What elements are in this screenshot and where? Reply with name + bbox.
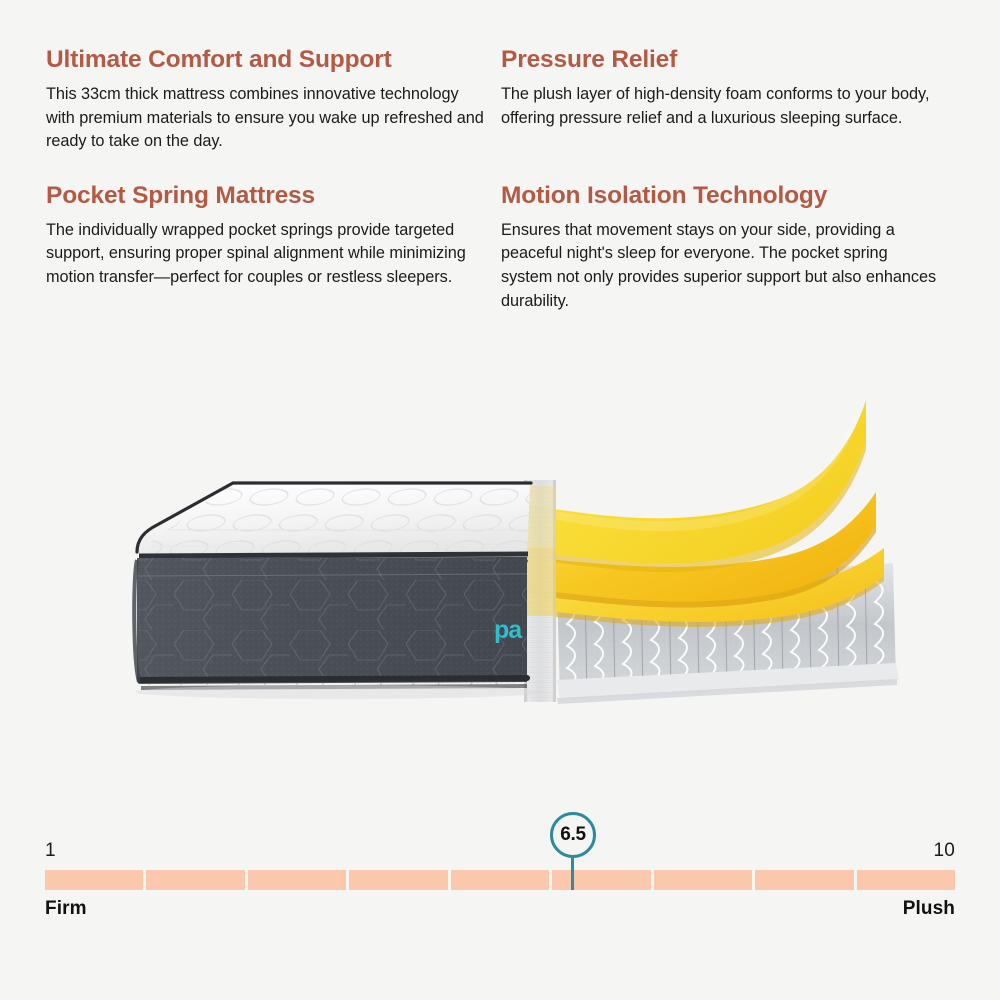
firmness-marker-stem bbox=[571, 857, 574, 890]
scale-foot-labels: Firm Plush bbox=[45, 898, 955, 920]
scale-segment[interactable] bbox=[349, 870, 447, 890]
feature-body: The plush layer of high-density foam con… bbox=[501, 83, 942, 130]
scale-segment[interactable] bbox=[857, 870, 955, 890]
scale-plush-label: Plush bbox=[903, 898, 955, 920]
scale-segment[interactable] bbox=[755, 870, 853, 890]
feature-grid: Ultimate Comfort and Support This 33cm t… bbox=[46, 46, 956, 313]
scale-segment[interactable] bbox=[146, 870, 244, 890]
scale-segment[interactable] bbox=[654, 870, 752, 890]
mattress-cutaway-illustration: pa bbox=[0, 380, 1000, 750]
firmness-marker[interactable]: 6.5 bbox=[550, 812, 596, 890]
mattress-body: pa bbox=[120, 476, 540, 688]
feature-body: The individually wrapped pocket springs … bbox=[46, 219, 487, 290]
feature-card-ultimate-comfort: Ultimate Comfort and Support This 33cm t… bbox=[46, 46, 501, 154]
scale-min-label: 1 bbox=[45, 840, 56, 862]
feature-title: Pocket Spring Mattress bbox=[46, 182, 487, 210]
scale-segment[interactable] bbox=[45, 870, 143, 890]
scale-max-label: 10 bbox=[933, 840, 955, 862]
firmness-scale: 1 10 6.5 Firm Plush bbox=[45, 812, 955, 924]
scale-firm-label: Firm bbox=[45, 898, 87, 920]
feature-card-pressure-relief: Pressure Relief The plush layer of high-… bbox=[501, 46, 956, 154]
feature-title: Pressure Relief bbox=[501, 46, 942, 74]
feature-title: Ultimate Comfort and Support bbox=[46, 46, 487, 74]
scale-end-labels: 1 10 bbox=[45, 840, 955, 862]
brand-logo-text: pa bbox=[494, 616, 523, 644]
feature-body: This 33cm thick mattress combines innova… bbox=[46, 83, 487, 154]
feature-title: Motion Isolation Technology bbox=[501, 182, 942, 210]
feature-card-motion-isolation: Motion Isolation Technology Ensures that… bbox=[501, 182, 956, 313]
firmness-marker-value[interactable]: 6.5 bbox=[550, 812, 596, 858]
feature-card-pocket-spring: Pocket Spring Mattress The individually … bbox=[46, 182, 501, 313]
scale-track[interactable] bbox=[45, 870, 955, 890]
scale-segment[interactable] bbox=[248, 870, 346, 890]
feature-body: Ensures that movement stays on your side… bbox=[501, 219, 942, 314]
scale-segment[interactable] bbox=[451, 870, 549, 890]
